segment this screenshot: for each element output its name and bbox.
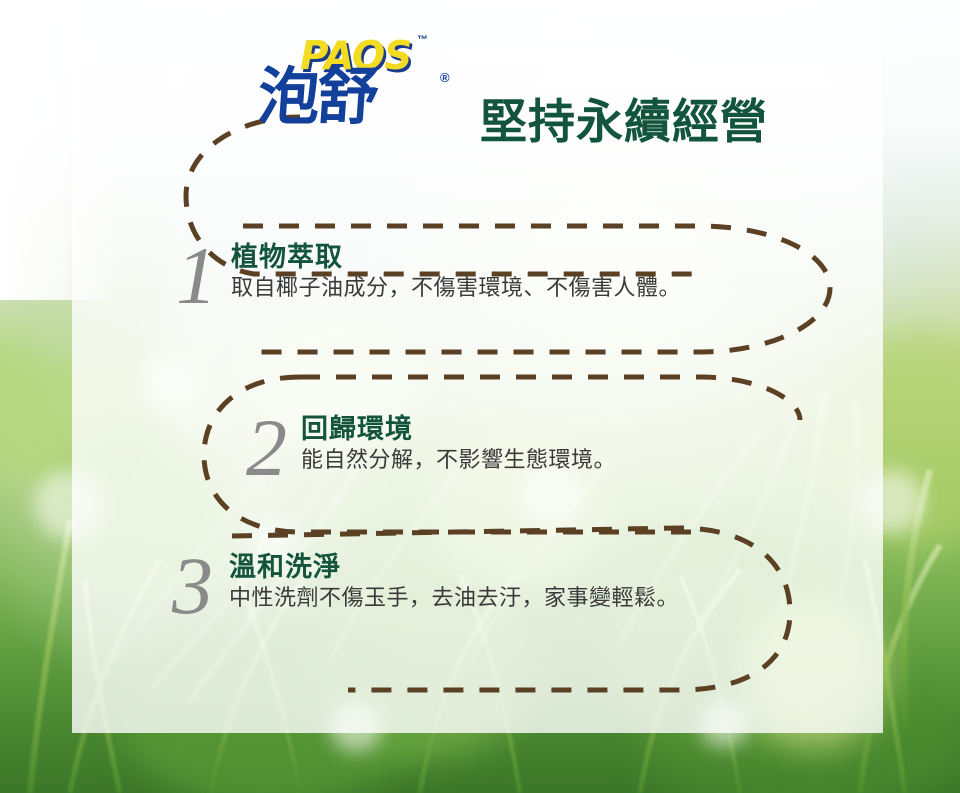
item-number: 2 (246, 414, 287, 481)
list-item: 3 溫和洗淨 中性洗劑不傷玉手，去油去汙，家事變輕鬆。 (172, 552, 679, 619)
trademark-icon: ™ (417, 34, 428, 46)
paos-logo: PAOS ™ 泡舒 ® (258, 28, 470, 158)
item-description: 中性洗劑不傷玉手，去油去汙，家事變輕鬆。 (229, 585, 679, 614)
item-title: 回歸環境 (301, 414, 616, 445)
brand-header: PAOS ™ 泡舒 ® 堅持永續經營 (258, 18, 878, 158)
item-number: 3 (172, 552, 213, 619)
registered-mark-icon: ® (440, 70, 450, 85)
item-number: 1 (176, 242, 217, 309)
list-item: 2 回歸環境 能自然分解，不影響生態環境。 (246, 414, 616, 481)
page-title: 堅持永續經營 (480, 99, 768, 146)
item-title: 植物萃取 (231, 242, 681, 273)
item-description: 取自椰子油成分，不傷害環境、不傷害人體。 (231, 275, 681, 304)
infographic-canvas: PAOS ™ 泡舒 ® 堅持永續經營 1 植物萃取 取自椰子油成分，不傷害環境、… (0, 0, 960, 793)
content-layer: PAOS ™ 泡舒 ® 堅持永續經營 1 植物萃取 取自椰子油成分，不傷害環境、… (0, 0, 960, 793)
list-item: 1 植物萃取 取自椰子油成分，不傷害環境、不傷害人體。 (176, 242, 681, 309)
item-description: 能自然分解，不影響生態環境。 (301, 447, 616, 476)
item-title: 溫和洗淨 (229, 552, 679, 583)
brand-chinese-wordmark: 泡舒 (256, 66, 378, 128)
